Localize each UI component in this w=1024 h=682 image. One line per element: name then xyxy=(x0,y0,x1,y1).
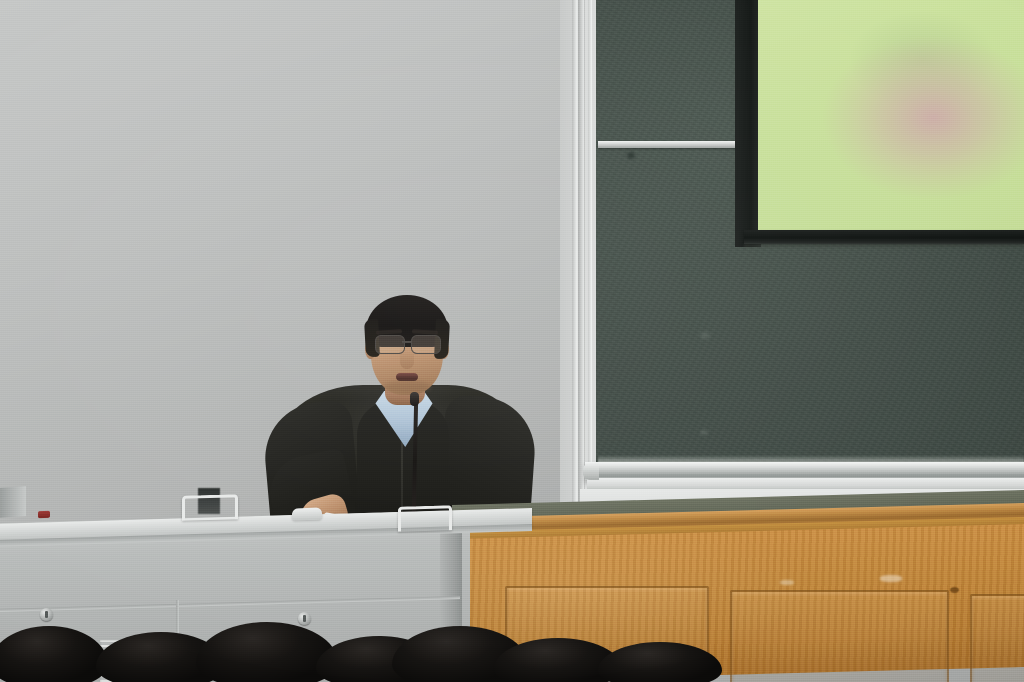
wood-knot xyxy=(950,587,959,593)
chalkboard-frame-edge-inner xyxy=(588,0,592,506)
speaker-nose xyxy=(400,349,414,369)
cabinet-lock[interactable] xyxy=(298,612,311,625)
cabinet-lock[interactable] xyxy=(40,608,53,621)
wood-scuff-mark xyxy=(880,575,902,582)
wood-scuff-mark xyxy=(780,580,794,585)
red-indicator xyxy=(38,511,50,518)
photo-scene: Classroom / lecture hall xyxy=(0,0,1024,682)
projection-screen-weight-bar xyxy=(744,230,1024,244)
stage-recessed-panel xyxy=(730,590,949,682)
microphone-capsule[interactable] xyxy=(410,392,419,406)
chalkboard-smudge xyxy=(700,430,708,435)
stage-recessed-panel xyxy=(970,594,1024,682)
glasses-bridge xyxy=(402,341,412,343)
chalkboard-frame-edge-outer xyxy=(578,0,584,506)
glasses-lens-right xyxy=(411,335,441,354)
chalkboard-smudge xyxy=(627,152,635,159)
speaker-mouth xyxy=(396,373,418,381)
wire-handle[interactable] xyxy=(182,494,238,521)
desk-object[interactable] xyxy=(292,507,322,520)
projection-screen-shadow xyxy=(744,244,1024,250)
chalkboard-slide-rail xyxy=(598,141,748,148)
chalk-tray-end-cap xyxy=(583,463,599,480)
chalkboard-smudge xyxy=(700,332,710,339)
wire-handle[interactable] xyxy=(398,505,452,532)
speaker-chin-shadow xyxy=(383,381,431,393)
podium-left-side-panel xyxy=(0,486,26,518)
projection-screen-surface xyxy=(758,0,1024,232)
